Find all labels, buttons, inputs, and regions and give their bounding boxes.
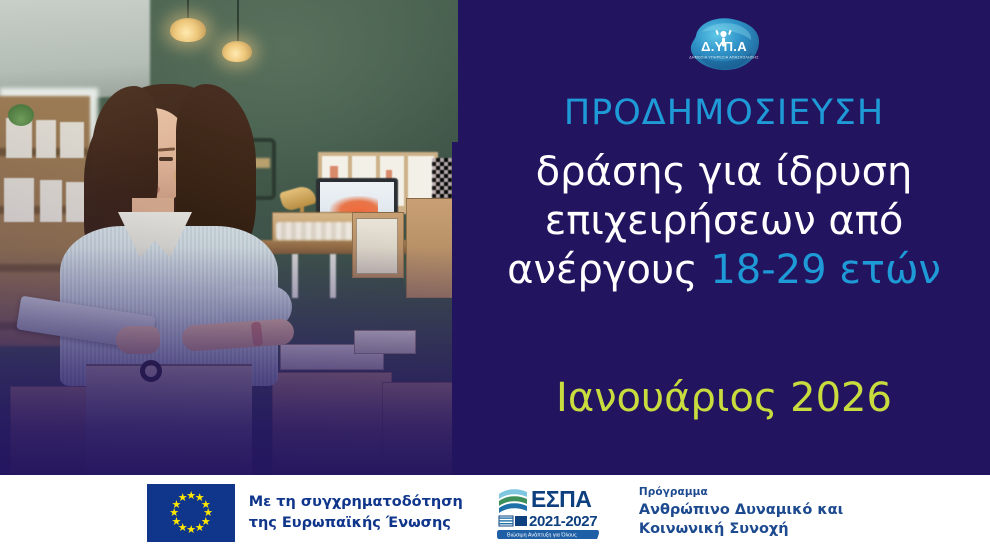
programme-title-line-2: Κοινωνική Συνοχή: [639, 520, 843, 539]
date-label: Ιανουάριος 2026: [458, 378, 990, 418]
eu-funding-line-2: της Ευρωπαϊκής Ένωσης: [249, 513, 463, 534]
espa-logo: ΕΣΠΑ 2021-2027 Βιώσιμη Ανάπτυξη για Όλου…: [497, 482, 603, 544]
footer-bar: ★★★★★★★★★★★★ Με τη συγχρηματοδότηση της …: [0, 475, 990, 550]
svg-text:2021-2027: 2021-2027: [529, 513, 597, 530]
svg-text:Δ.ΥΠ.Α: Δ.ΥΠ.Α: [701, 39, 747, 54]
photo-scene: [0, 0, 458, 475]
photo-gradient-overlay: [0, 0, 458, 475]
content-panel: Δ.ΥΠ.Α ΔΗΜΟΣΙΑ ΥΠΗΡΕΣΙΑ ΑΠΑΣΧΟΛΗΣΗΣ ΠΡΟΔ…: [458, 0, 990, 475]
eu-star-icon: ★: [195, 523, 204, 532]
european-union-flag-icon: ★★★★★★★★★★★★: [147, 484, 235, 542]
programme-title-line-1: Ανθρώπινο Δυναμικό και: [639, 501, 843, 520]
hero-photo: [0, 0, 458, 475]
dypa-logo: Δ.ΥΠ.Α ΔΗΜΟΣΙΑ ΥΠΗΡΕΣΙΑ ΑΠΑΣΧΟΛΗΣΗΣ: [682, 14, 766, 76]
age-range-highlight: 18-29 ετών: [710, 247, 941, 293]
subtitle-line-3-text: ανέργους: [507, 247, 710, 293]
dypa-logo-icon: Δ.ΥΠ.Α ΔΗΜΟΣΙΑ ΥΠΗΡΕΣΙΑ ΑΠΑΣΧΟΛΗΣΗΣ: [682, 14, 766, 76]
svg-text:ΕΣΠΑ: ΕΣΠΑ: [531, 486, 591, 512]
poster-root: Δ.ΥΠ.Α ΔΗΜΟΣΙΑ ΥΠΗΡΕΣΙΑ ΑΠΑΣΧΟΛΗΣΗΣ ΠΡΟΔ…: [0, 0, 990, 550]
subtitle-line-3: ανέργους 18-29 ετών: [458, 246, 990, 295]
programme-block: Πρόγραμμα Ανθρώπινο Δυναμικό και Κοινωνι…: [639, 486, 843, 540]
page-title: ΠΡΟΔΗΜΟΣΙΕΥΣΗ: [458, 96, 990, 131]
eu-funding-line-1: Με τη συγχρηματοδότηση: [249, 492, 463, 513]
espa-wave-mark: [499, 489, 527, 513]
svg-text:ΔΗΜΟΣΙΑ ΥΠΗΡΕΣΙΑ ΑΠΑΣΧΟΛΗΣΗΣ: ΔΗΜΟΣΙΑ ΥΠΗΡΕΣΙΑ ΑΠΑΣΧΟΛΗΣΗΣ: [689, 56, 759, 60]
subtitle-block: δράσης για ίδρυση επιχειρήσεων από ανέργ…: [458, 148, 990, 294]
svg-text:Βιώσιμη Ανάπτυξη για Όλους: Βιώσιμη Ανάπτυξη για Όλους: [507, 531, 577, 538]
footer-logos: ★★★★★★★★★★★★ Με τη συγχρηματοδότηση της …: [147, 482, 844, 544]
eu-star-icon: ★: [178, 493, 187, 502]
subtitle-line-2: επιχειρήσεων από: [458, 197, 990, 246]
eu-funding-text: Με τη συγχρηματοδότηση της Ευρωπαϊκής Έν…: [249, 492, 463, 533]
banner: Δ.ΥΠ.Α ΔΗΜΟΣΙΑ ΥΠΗΡΕΣΙΑ ΑΠΑΣΧΟΛΗΣΗΣ ΠΡΟΔ…: [0, 0, 990, 475]
espa-logo-icon: ΕΣΠΑ 2021-2027 Βιώσιμη Ανάπτυξη για Όλου…: [497, 482, 603, 544]
programme-kicker: Πρόγραμμα: [639, 486, 843, 498]
subtitle-line-1: δράσης για ίδρυση: [458, 148, 990, 197]
